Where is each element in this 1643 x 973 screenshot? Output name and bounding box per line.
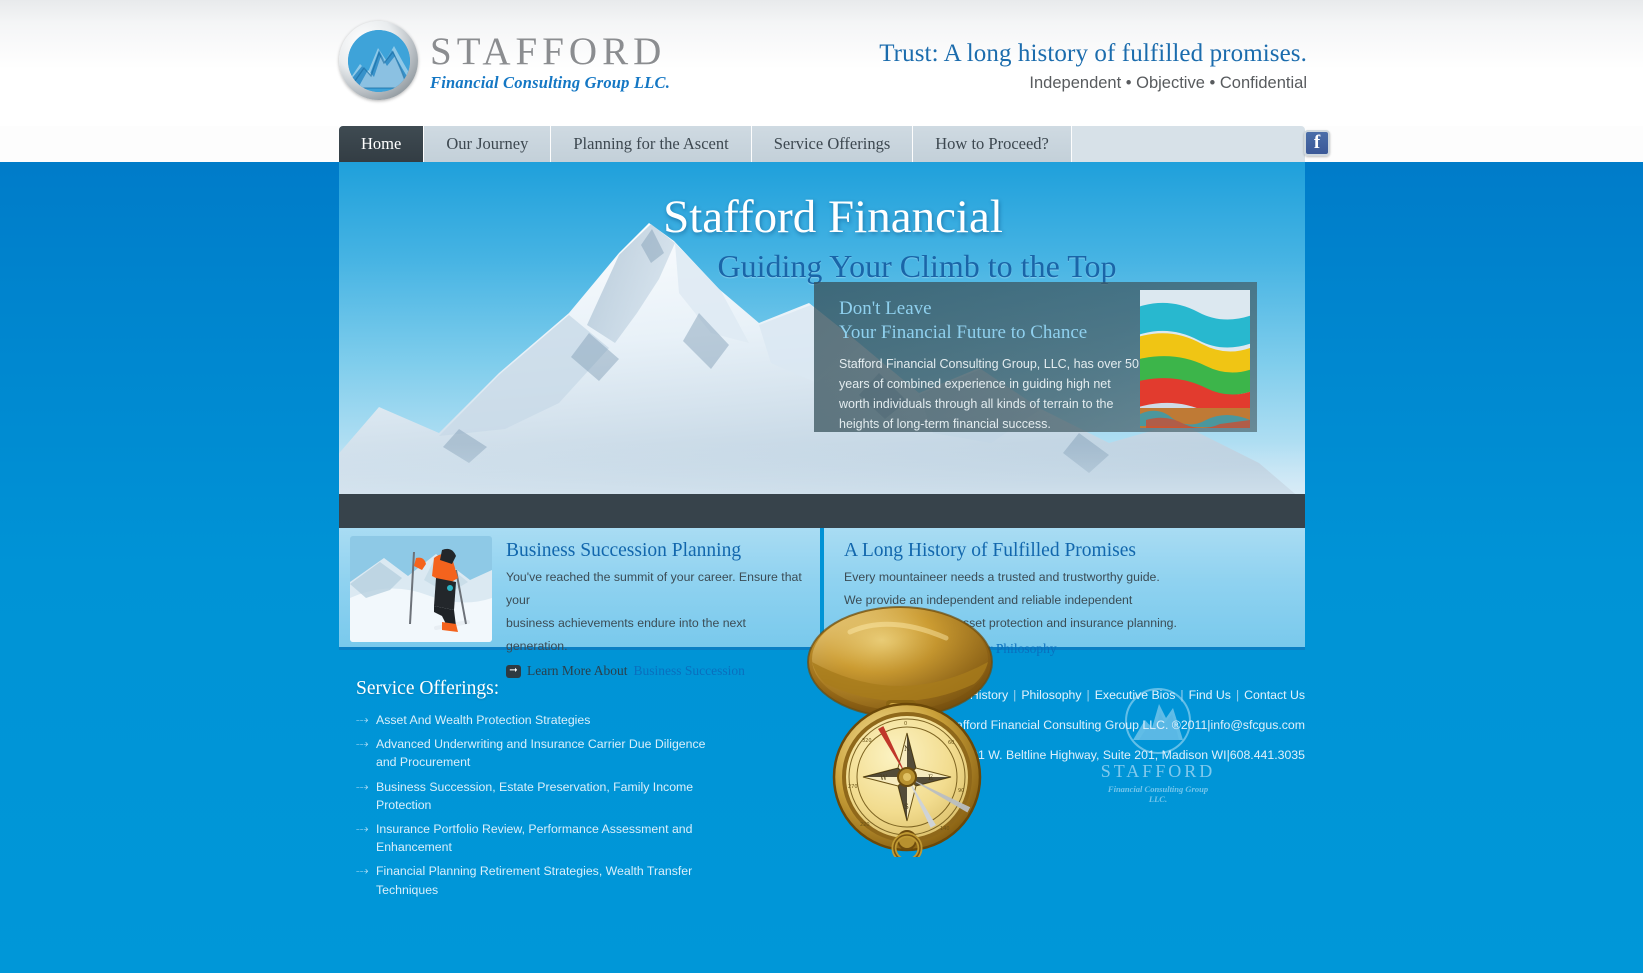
divider: | [1236,688,1239,702]
service-label: Business Succession, Estate Preservation… [376,780,693,812]
arrow-bullet-icon: ⤏ [356,778,368,796]
site-header: STAFFORD Financial Consulting Group LLC.… [0,0,1643,126]
feature-card-right-body: A Long History of Fulfilled Promises Eve… [844,528,1191,657]
logo-subtitle: Financial Consulting Group LLC. [430,75,670,92]
arrow-bullet-icon: ⤏ [356,735,368,753]
prayer-flags-photo [1140,290,1250,428]
nav-item-our-journey[interactable]: Our Journey [424,126,551,162]
main-navigation: Home Our Journey Planning for the Ascent… [0,126,1643,162]
list-item[interactable]: ⤏Asset And Wealth Protection Strategies [356,708,726,732]
hero-card-body: Stafford Financial Consulting Group, LLC… [839,354,1139,435]
page-body: Stafford Financial Guiding Your Climb to… [0,162,1643,830]
footer-link-contact-us[interactable]: Contact Us [1244,688,1305,702]
facebook-glyph: f [1314,133,1320,152]
feature-card-long-history: A Long History of Fulfilled Promises Eve… [824,528,1305,650]
feature-cards: Business Succession Planning You've reac… [339,528,1305,650]
footer-link-history[interactable]: History [970,688,1008,702]
service-label: Advanced Underwriting and Insurance Carr… [376,737,705,769]
feature-card-right-heading: A Long History of Fulfilled Promises [844,540,1177,561]
arrow-bullet-icon: ⤏ [356,862,368,880]
nav-item-how-to-proceed[interactable]: How to Proceed? [913,126,1072,162]
footer-link-executive-bios[interactable]: Executive Bios [1095,688,1176,702]
tagline-main: Trust: A long history of fulfilled promi… [879,40,1307,68]
feature-card-right-text-line3: solution for financial asset protection … [844,612,1177,635]
list-item[interactable]: ⤏Advanced Underwriting and Insurance Car… [356,732,726,774]
list-item[interactable]: ⤏Financial Planning Retirement Strategie… [356,859,726,901]
feature-card-right-text-line2: We provide an independent and reliable i… [844,589,1177,612]
footer-link-home[interactable]: Home [924,688,957,702]
footer-info: Home|History|Philosophy|Executive Bios|F… [885,688,1305,762]
nav-strip: Home Our Journey Planning for the Ascent… [339,126,1305,162]
footer-link-find-us[interactable]: Find Us [1189,688,1231,702]
hero-banner: Stafford Financial Guiding Your Climb to… [339,162,1305,528]
footer-copyright-line: Stafford Financial Consulting Group LLC.… [885,718,1305,732]
header-tagline: Trust: A long history of fulfilled promi… [879,40,1307,93]
feature-card-left-heading: Business Succession Planning [506,540,806,561]
service-label: Asset And Wealth Protection Strategies [376,713,590,727]
arrow-bullet-icon: ⤏ [356,711,368,729]
footer-logo-subtitle: Financial Consulting Group LLC. [1099,784,1217,804]
content-column: Stafford Financial Guiding Your Climb to… [339,162,1305,830]
facebook-icon[interactable]: f [1304,130,1330,156]
mountain-logo-icon [339,21,418,100]
tagline-sub: Independent • Objective • Confidential [879,74,1307,93]
logo-name: STAFFORD [430,32,670,71]
hero-callout-card: Don't Leave Your Financial Future to Cha… [814,282,1257,432]
footer-address: 2501 W. Beltline Highway, Suite 201, Mad… [957,748,1226,762]
nav-item-planning-for-the-ascent[interactable]: Planning for the Ascent [551,126,751,162]
feature-card-right-text-line1: Every mountaineer needs a trusted and tr… [844,566,1177,589]
footer-copyright: Stafford Financial Consulting Group LLC.… [944,718,1207,732]
divider: | [1180,688,1183,702]
ski-mountaineer-photo [350,536,492,642]
list-item[interactable]: ⤏Insurance Portfolio Review, Performance… [356,817,726,859]
site-footer: Service Offerings: ⤏Asset And Wealth Pro… [339,650,1305,830]
service-label: Insurance Portfolio Review, Performance … [376,822,692,854]
footer-phone: 608.441.3035 [1230,748,1305,762]
feature-card-business-succession: Business Succession Planning You've reac… [339,528,820,650]
divider: | [1087,688,1090,702]
feature-card-left-text-line1: You've reached the summit of your career… [506,566,806,611]
site-logo[interactable]: STAFFORD Financial Consulting Group LLC. [339,21,670,100]
footer-email[interactable]: info@sfcgus.com [1211,718,1306,732]
footer-link-philosophy[interactable]: Philosophy [1021,688,1081,702]
nav-item-service-offerings[interactable]: Service Offerings [752,126,914,162]
hero-bottom-bar [339,494,1305,528]
footer-links: Home|History|Philosophy|Executive Bios|F… [885,688,1305,702]
nav-item-home[interactable]: Home [339,126,424,162]
divider: | [1013,688,1016,702]
service-label: Financial Planning Retirement Strategies… [376,864,692,896]
list-item[interactable]: ⤏Business Succession, Estate Preservatio… [356,775,726,817]
arrow-bullet-icon: ⤏ [356,820,368,838]
footer-address-line: 2501 W. Beltline Highway, Suite 201, Mad… [885,748,1305,762]
divider: | [962,688,965,702]
footer-logo-name: STAFFORD [1099,761,1217,782]
